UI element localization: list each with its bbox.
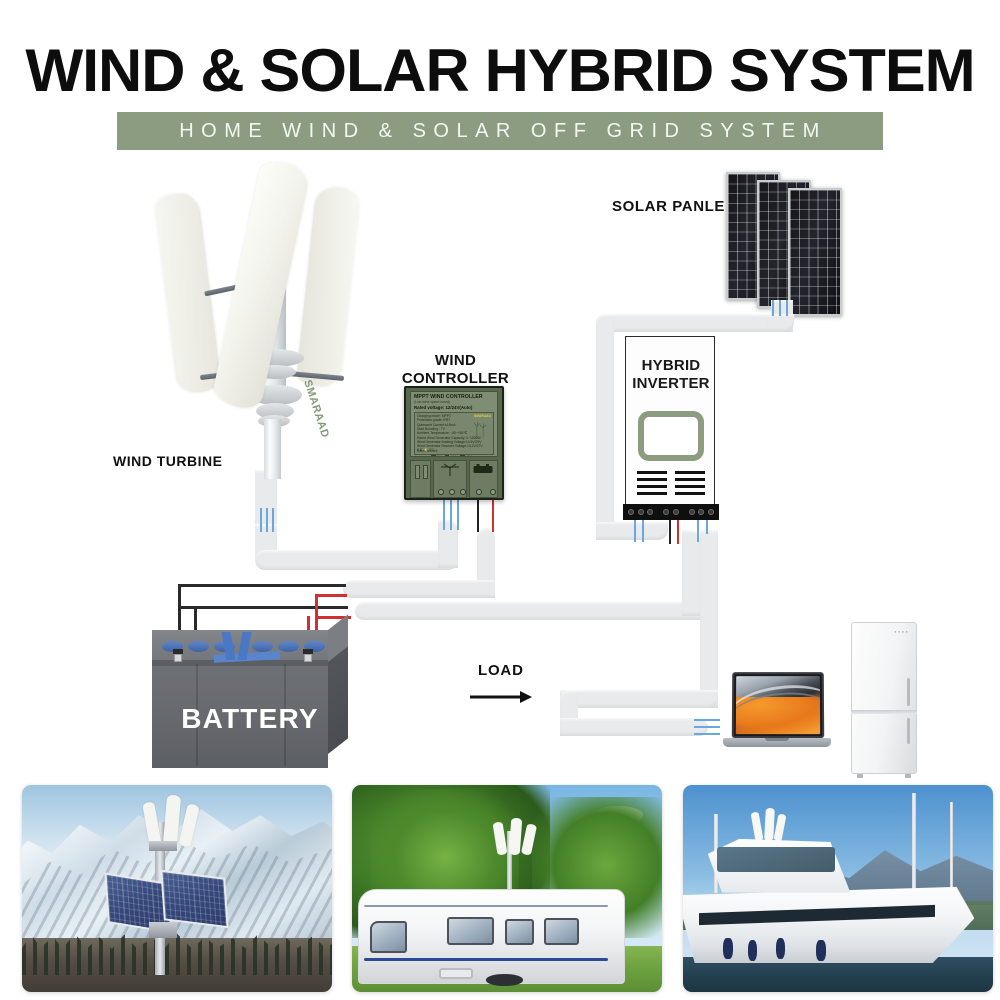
- caravan-wheel: [486, 974, 523, 985]
- subtitle-banner: HOME WIND & SOLAR OFF GRID SYSTEM: [117, 112, 883, 150]
- wind-controller-label-line2: CONTROLLER: [383, 370, 528, 388]
- wire-solar-blue-1: [772, 300, 774, 316]
- solar-panel-3: [788, 188, 842, 316]
- photo-yacht-installation: [683, 785, 993, 992]
- mountain-solar-panel-right: [160, 870, 228, 928]
- mountain-panel-bracket: [149, 922, 177, 939]
- wc-rated-voltage: Rated voltage: 12/24V(Auto): [414, 405, 494, 410]
- wc-subtitle: (Low wind speed boost): [414, 400, 494, 404]
- wire-appliance-blue-2: [694, 726, 720, 728]
- battery-terminal-positive-post: [303, 649, 313, 654]
- wire-controller-blue-1: [443, 500, 445, 530]
- wc-turbine-icon: [472, 421, 488, 438]
- laptop-screen: [732, 672, 824, 738]
- refrigerator-logo: ● ● ● ●: [894, 630, 908, 634]
- inverter-vent-line: [637, 478, 667, 481]
- wire-turbine-blue-3: [272, 508, 274, 532]
- page-title: WIND & SOLAR HYBRID SYSTEM: [0, 36, 1000, 105]
- wc-current-5a: 5A: [437, 455, 441, 457]
- turbine-mast: [264, 419, 281, 479]
- wc-certification-marks: CE ⚡ FC: [417, 448, 434, 452]
- inverter-vent-line: [637, 485, 667, 488]
- yacht-fender: [748, 940, 757, 961]
- wire-controller-black: [477, 500, 479, 532]
- conduit-main-bus: [355, 602, 700, 620]
- laptop-device: [723, 672, 831, 772]
- wire-controller-red: [492, 500, 494, 532]
- wc-current-15a: 15A: [466, 455, 472, 457]
- battery-cap: [252, 641, 273, 652]
- laptop-trackpad-notch: [765, 738, 789, 741]
- load-label: LOAD: [478, 662, 524, 680]
- wire-solar-blue-2: [779, 300, 781, 316]
- wind-controller-terminal-area: [410, 460, 498, 498]
- hybrid-inverter-label: HYBRID INVERTER: [621, 357, 721, 392]
- refrigerator-handle-upper: [907, 678, 910, 706]
- caravan-stripe-upper: [364, 905, 607, 906]
- caravan-stripe-blue: [364, 958, 607, 960]
- inverter-port[interactable]: [663, 509, 669, 515]
- wc-terminal-battery-positive[interactable]: [490, 489, 496, 495]
- hybrid-inverter-device[interactable]: HYBRID INVERTER: [625, 336, 715, 512]
- wc-wind-input-icon: [439, 463, 461, 476]
- inverter-port[interactable]: [638, 509, 644, 515]
- wire-appliance-blue-1: [694, 719, 720, 721]
- laptop-wallpaper: [736, 676, 820, 734]
- inverter-vent-line: [675, 485, 705, 488]
- wire-controller-blue-2: [450, 500, 452, 530]
- wc-terminal-wind-1[interactable]: [438, 489, 444, 495]
- turbine-blade-right: [295, 188, 360, 387]
- wire-turbine-blue-2: [266, 508, 268, 532]
- yacht-cabin-windows: [717, 847, 835, 872]
- wire-inverter-black: [669, 520, 671, 544]
- inverter-vent-group-right: [675, 471, 705, 495]
- wc-led-output: [415, 465, 420, 479]
- conduit-solar-horizontal: [608, 314, 768, 332]
- wind-controller-faceplate: MPPT WIND CONTROLLER (Low wind speed boo…: [410, 391, 498, 457]
- hybrid-inverter-label-line1: HYBRID: [621, 357, 721, 375]
- wc-terminal-wind-3[interactable]: [460, 489, 466, 495]
- inverter-vent-line: [675, 492, 705, 495]
- inverter-vent-line: [637, 471, 667, 474]
- wind-turbine: SMARAAD: [160, 163, 375, 473]
- wc-led-charge: [423, 465, 428, 479]
- inverter-port[interactable]: [628, 509, 634, 515]
- wire-controller-blue-3: [457, 500, 459, 530]
- solar-panel-label: SOLAR PANLE: [612, 198, 725, 216]
- refrigerator-foot: [905, 774, 911, 778]
- wc-current-row-1: 5A 10A 15A: [431, 455, 491, 457]
- inverter-port[interactable]: [673, 509, 679, 515]
- wire-turbine-blue-1: [260, 508, 262, 532]
- inverter-vents: [637, 471, 705, 495]
- battery-label: BATTERY: [155, 703, 345, 735]
- inverter-vent-group-left: [637, 471, 667, 495]
- wire-inverter-red: [677, 520, 679, 544]
- mountain-turbine-mount: [149, 841, 177, 851]
- load-arrow-icon: [470, 690, 532, 704]
- wc-checkbox-10a[interactable]: [445, 455, 450, 457]
- wc-battery-icon: [472, 463, 494, 475]
- infographic-page: WIND & SOLAR HYBRID SYSTEM HOME WIND & S…: [0, 0, 1000, 1000]
- photo-caravan-installation: [352, 785, 662, 992]
- battery-terminal-negative: [174, 654, 182, 662]
- wire-inverter-blue-4: [706, 520, 708, 534]
- subtitle-text: HOME WIND & SOLAR OFF GRID SYSTEM: [173, 120, 827, 143]
- inverter-vent-line: [637, 492, 667, 495]
- yacht-fender: [776, 938, 785, 959]
- battery-cap: [188, 641, 209, 652]
- wire-battery-positive-h1: [315, 594, 347, 597]
- conduit-load-riser: [700, 530, 718, 708]
- yacht-fender: [723, 938, 732, 959]
- wc-brand-label: SMARAAD: [474, 414, 491, 418]
- wind-controller-label-line1: WIND: [383, 352, 528, 370]
- wire-solar-blue-3: [786, 300, 788, 316]
- refrigerator-door-divider: [851, 710, 917, 714]
- wc-checkbox-5a[interactable]: [431, 455, 436, 457]
- turbine-brand-mark: SMARAAD: [301, 378, 331, 439]
- conduit-main-bus-riser: [682, 530, 700, 616]
- inverter-port[interactable]: [647, 509, 653, 515]
- wc-terminal-wind-2[interactable]: [449, 489, 455, 495]
- inverter-port[interactable]: [708, 509, 714, 515]
- refrigerator-foot: [857, 774, 863, 778]
- caravan-window-front: [370, 921, 407, 953]
- yacht-fender: [816, 940, 825, 961]
- caravan-window: [544, 918, 578, 945]
- wind-controller-device[interactable]: MPPT WIND CONTROLLER (Low wind speed boo…: [404, 386, 504, 500]
- conduit-turbine-to-controller: [255, 550, 458, 570]
- inverter-vent-line: [675, 471, 705, 474]
- inverter-vent-line: [675, 478, 705, 481]
- conduit-controller-battery-run: [343, 580, 495, 598]
- wc-indicator-cell: [410, 460, 431, 498]
- wind-controller-label: WIND CONTROLLER: [383, 352, 528, 387]
- inverter-port[interactable]: [698, 509, 704, 515]
- battery-terminal-positive: [304, 654, 312, 662]
- refrigerator-handle-lower: [907, 718, 910, 744]
- inverter-port[interactable]: [689, 509, 695, 515]
- caravan-storage-hatch: [439, 968, 473, 979]
- refrigerator-device: ● ● ● ●: [851, 622, 917, 774]
- wire-battery-negative-h1: [178, 584, 346, 587]
- wire-inverter-blue-3: [697, 520, 699, 542]
- wc-spec-box: SMARAAD Charging mode: MPPT Protection g…: [414, 412, 494, 455]
- conduit-load-to-appliance: [560, 718, 708, 736]
- conduit-load-corner: [560, 690, 718, 708]
- wire-battery-negative-h2: [178, 606, 348, 609]
- caravan-window: [447, 917, 495, 945]
- wc-checkbox-15a[interactable]: [460, 455, 465, 457]
- wc-current-10a: 10A: [451, 455, 457, 457]
- wire-inverter-blue-2: [642, 520, 644, 542]
- battery-cap: [278, 641, 299, 652]
- inverter-terminal-strip[interactable]: [623, 504, 719, 520]
- inverter-display-screen[interactable]: [638, 411, 704, 461]
- caravan-body: [358, 889, 625, 984]
- hybrid-inverter-label-line2: INVERTER: [621, 375, 721, 393]
- wc-wind-input-cell[interactable]: [433, 460, 467, 498]
- wire-inverter-blue-1: [634, 520, 636, 542]
- wc-battery-output-cell[interactable]: [469, 460, 498, 498]
- conduit-inverter-left-riser: [596, 314, 614, 540]
- conduit-controller-riser: [438, 520, 458, 568]
- photo-mountain-installation: [22, 785, 332, 992]
- wire-appliance-blue-3: [694, 733, 720, 735]
- conduit-inverter-left-bottom: [596, 522, 668, 540]
- battery-terminal-negative-post: [173, 649, 183, 654]
- caravan-window: [505, 919, 534, 945]
- wc-terminal-battery-negative[interactable]: [476, 489, 482, 495]
